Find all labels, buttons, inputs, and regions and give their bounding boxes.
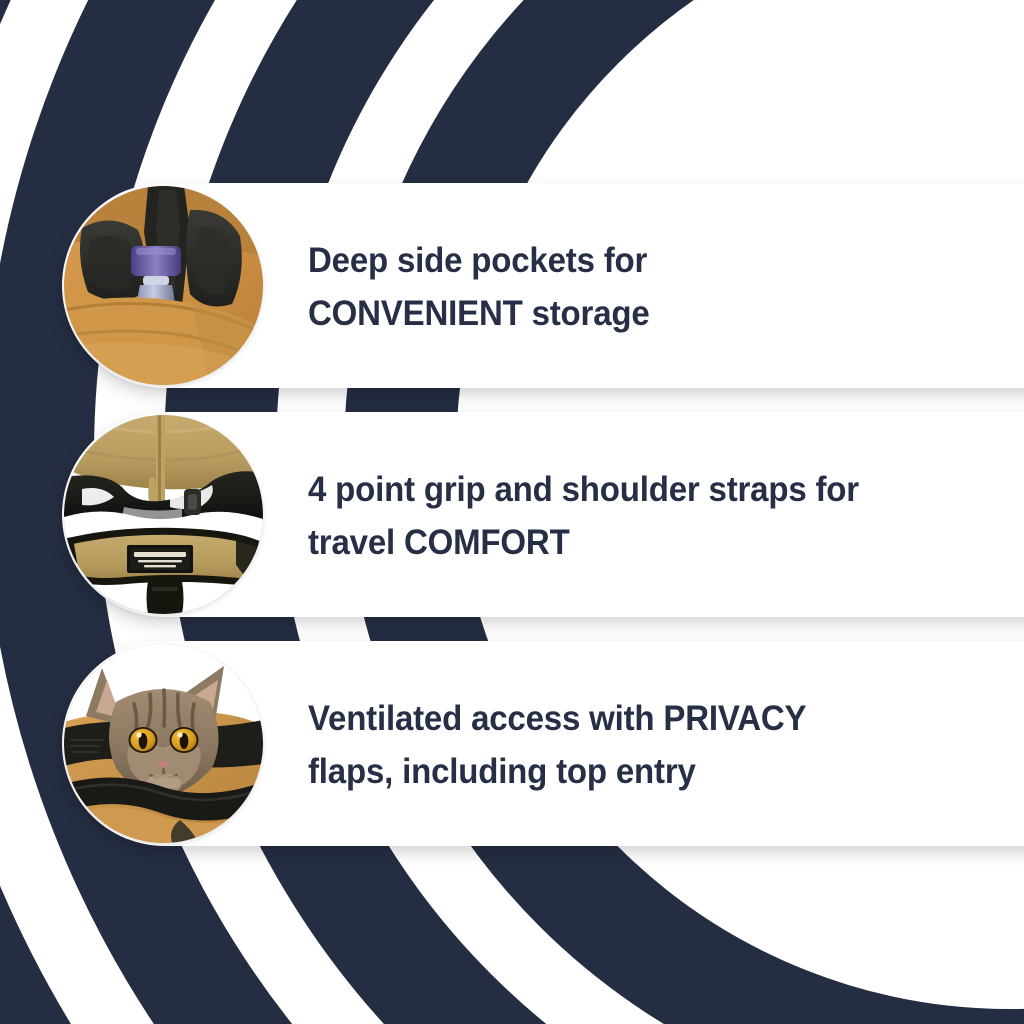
feature-card-four-point-grip[interactable]: 4 point grip and shoulder straps for tra… — [62, 412, 1024, 617]
feature-highlight-graphic: Deep side pockets for CONVENIENT storage — [0, 0, 1024, 1024]
shoulder-strap-sturdi-products-photo — [64, 415, 263, 614]
feature-card-deep-side-pockets[interactable]: Deep side pockets for CONVENIENT storage — [62, 183, 1024, 388]
feature-text-deep-side-pockets: Deep side pockets for CONVENIENT storage — [308, 234, 983, 341]
side-pocket-with-water-bottle-photo — [64, 186, 263, 385]
cat-peeking-from-carrier-photo — [64, 644, 263, 843]
feature-text-four-point-grip: 4 point grip and shoulder straps for tra… — [308, 463, 983, 570]
feature-text-ventilated-access: Ventilated access with PRIVACY flaps, in… — [308, 692, 983, 799]
feature-card-ventilated-access[interactable]: Ventilated access with PRIVACY flaps, in… — [62, 641, 1024, 846]
